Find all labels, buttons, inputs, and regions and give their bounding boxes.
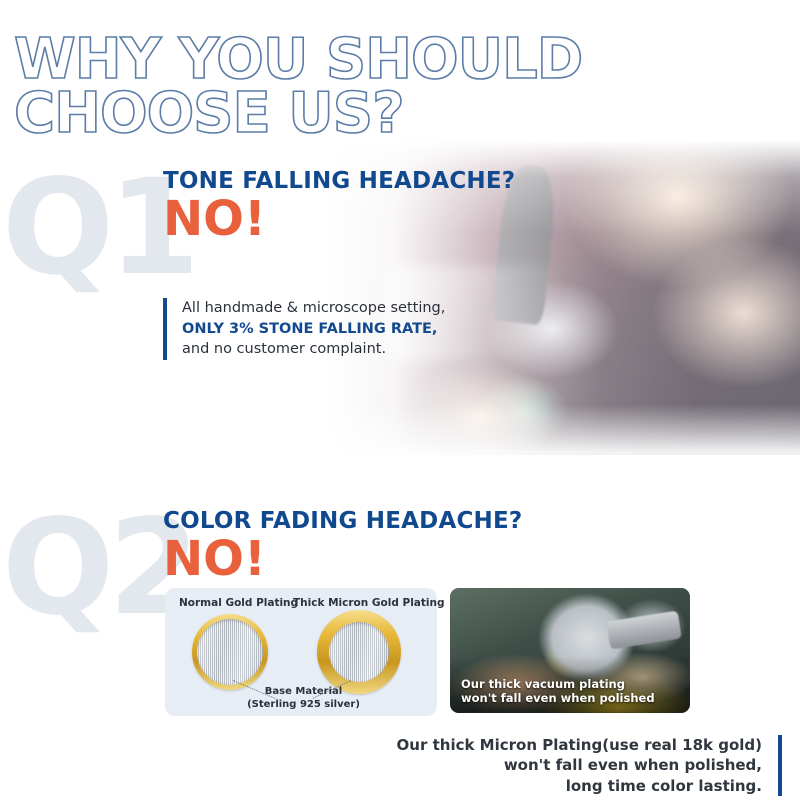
plating-label-thick: Thick Micron Gold Plating xyxy=(293,597,445,609)
q1-quote-line-3: and no customer complaint. xyxy=(182,339,445,360)
base-material-callout: Base Material (Sterling 925 silver) xyxy=(221,686,386,711)
bottom-statement-line-3: long time color lasting. xyxy=(397,776,762,796)
coin-normal-plating xyxy=(192,614,268,690)
coin-thick-base-material xyxy=(329,622,389,682)
page-title: WHY YOU SHOULD CHOOSE US? xyxy=(14,34,774,139)
plating-label-normal: Normal Gold Plating xyxy=(179,597,298,609)
photo-polishing: Our thick vacuum plating won't fall even… xyxy=(450,588,690,713)
q2-text-block: COLOR FADING HEADACHE? NO! xyxy=(163,508,522,582)
infographic-page: WHY YOU SHOULD CHOOSE US? Q1 TONE FALLIN… xyxy=(0,0,800,800)
bottom-statement-line-1: Our thick Micron Plating(use real 18k go… xyxy=(397,735,762,755)
q1-quote-line-1: All handmade & microscope setting, xyxy=(182,298,445,319)
coin-normal-base-material xyxy=(197,619,263,685)
bottom-statement-line-2: won't fall even when polished, xyxy=(397,755,762,775)
section-q1: Q1 TONE FALLING HEADACHE? NO! All handma… xyxy=(0,140,800,470)
q1-quote-block: All handmade & microscope setting, ONLY … xyxy=(163,298,445,360)
q2-answer: NO! xyxy=(163,536,522,582)
bottom-statement: Our thick Micron Plating(use real 18k go… xyxy=(397,735,782,796)
headline-line-2: CHOOSE US? xyxy=(14,88,774,140)
q1-quote-line-2: ONLY 3% STONE FALLING RATE, xyxy=(182,319,445,340)
coin-thick-micron-plating xyxy=(317,610,401,694)
headline-line-1: WHY YOU SHOULD xyxy=(14,34,774,86)
q1-answer: NO! xyxy=(163,196,515,242)
photo-polishing-caption: Our thick vacuum plating won't fall even… xyxy=(461,677,655,705)
plating-comparison-diagram: Normal Gold Plating Thick Micron Gold Pl… xyxy=(165,588,437,716)
q1-text-block: TONE FALLING HEADACHE? NO! xyxy=(163,168,515,242)
